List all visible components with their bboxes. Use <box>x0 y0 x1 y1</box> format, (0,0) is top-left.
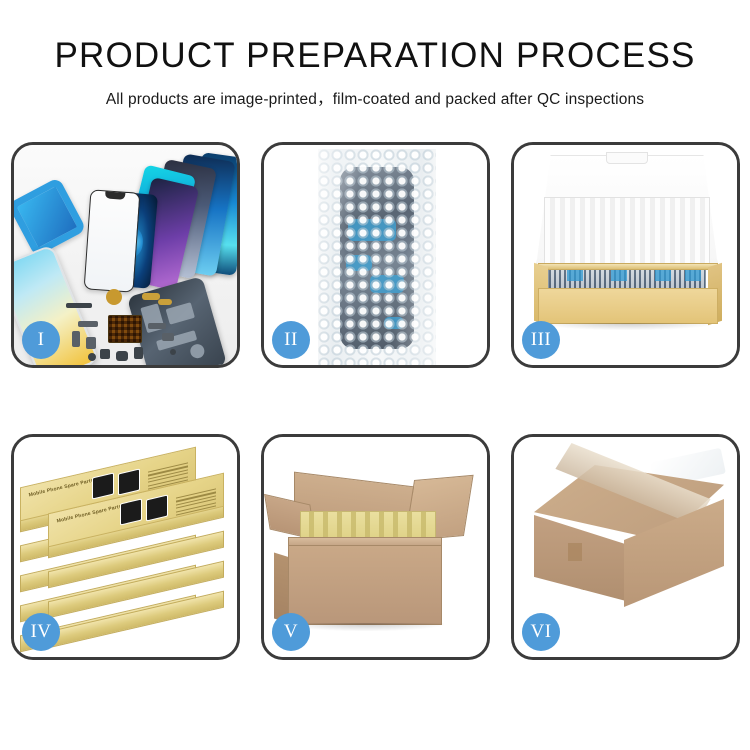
part-small-5 <box>116 351 128 361</box>
step-panel-6: VI <box>511 434 740 660</box>
part-small-1 <box>78 321 98 327</box>
step-badge-6: VI <box>522 613 560 651</box>
spare-parts-cluster <box>66 287 186 365</box>
step-panel-2: II <box>261 142 490 368</box>
carton-handle-notch-2 <box>570 589 584 603</box>
mailer-box-shadow <box>544 323 712 330</box>
step-panel-5: V <box>261 434 490 660</box>
header: PRODUCT PREPARATION PROCESS All products… <box>0 0 750 109</box>
mailer-box-front <box>538 288 718 324</box>
part-speaker <box>106 289 122 305</box>
bubble-wrap-sleeve <box>318 149 436 365</box>
part-grid-chip <box>108 315 142 343</box>
carton-handle-notch-1 <box>568 543 582 561</box>
step-badge-1: I <box>22 321 60 359</box>
step-badge-4: IV <box>22 613 60 651</box>
part-small-6 <box>134 347 143 359</box>
mailer-box-rim <box>538 263 718 270</box>
step-badge-5: V <box>272 613 310 651</box>
mailer-box-tab <box>606 152 648 164</box>
plastic-sheen <box>318 149 436 365</box>
part-ribbon <box>66 303 92 308</box>
step-panel-1: I <box>11 142 240 368</box>
part-screw-1 <box>88 353 96 361</box>
part-small-4 <box>100 349 110 359</box>
step-badge-3: III <box>522 321 560 359</box>
part-flex-cable-2 <box>158 299 172 305</box>
carton-shadow <box>288 623 444 631</box>
step-panel-4: Mobile Phone Spare Parts Mobile Phone Sp… <box>11 434 240 660</box>
content-blue-2 <box>611 270 627 281</box>
foam-liner <box>544 197 710 269</box>
part-small-2 <box>72 331 80 347</box>
product-preparation-infographic: PRODUCT PREPARATION PROCESS All products… <box>0 0 750 750</box>
steps-grid: I II <box>11 142 740 686</box>
tempered-glass-sheet <box>84 189 141 292</box>
carton-front-face <box>288 545 442 625</box>
page-title: PRODUCT PREPARATION PROCESS <box>0 38 750 75</box>
part-screw-2 <box>170 349 176 355</box>
part-small-3 <box>86 337 96 349</box>
step-panel-3: III <box>511 142 740 368</box>
part-small-7 <box>148 323 166 329</box>
part-flex-cable-1 <box>142 293 160 300</box>
content-blue-3 <box>655 270 671 281</box>
page-subtitle: All products are image-printed，film-coat… <box>0 87 750 109</box>
content-blue-1 <box>567 270 583 281</box>
adhesive-frame <box>14 177 87 257</box>
housing-chip-4 <box>189 343 206 360</box>
step-badge-2: II <box>272 321 310 359</box>
part-small-8 <box>162 333 174 341</box>
content-blue-4 <box>685 270 701 281</box>
